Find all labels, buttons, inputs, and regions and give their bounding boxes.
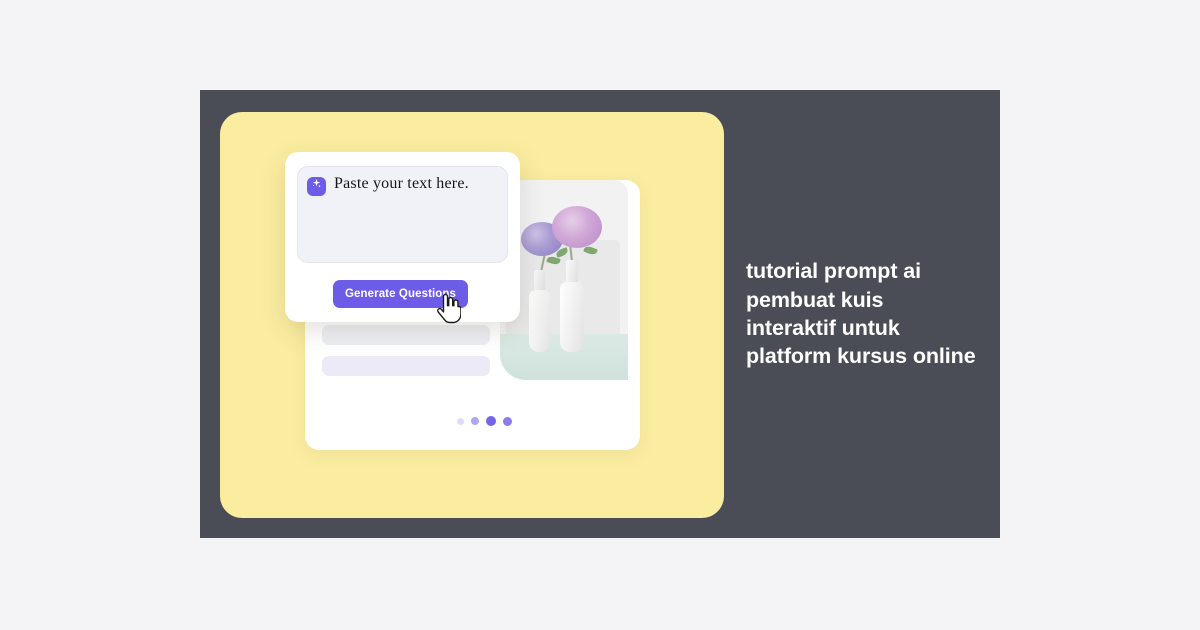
prompt-card: Paste your text here. Generate Questions <box>285 152 520 322</box>
title-area: tutorial prompt ai pembuat kuis interakt… <box>746 90 1000 538</box>
white-vase <box>529 290 551 352</box>
page-title: tutorial prompt ai pembuat kuis interakt… <box>746 257 1000 371</box>
loading-dot <box>471 417 479 425</box>
paste-text-input[interactable]: Paste your text here. <box>297 166 508 263</box>
paste-text-placeholder: Paste your text here. <box>334 175 469 193</box>
skeleton-bar <box>322 325 490 345</box>
loading-dot <box>503 417 512 426</box>
vase-neck <box>534 270 545 292</box>
preview-card-frame: Paste your text here. Generate Questions… <box>200 90 1000 538</box>
pointer-hand-cursor-icon <box>435 294 461 324</box>
illustration-panel: Paste your text here. Generate Questions <box>220 112 724 518</box>
white-vase <box>560 282 584 352</box>
vase-neck <box>566 260 578 284</box>
skeleton-bar <box>322 356 490 376</box>
loading-dots-indicator <box>457 416 512 426</box>
loading-dot <box>457 418 464 425</box>
sparkle-icon <box>307 177 326 196</box>
hydrangea-bloom <box>552 206 602 248</box>
loading-dot <box>486 416 496 426</box>
